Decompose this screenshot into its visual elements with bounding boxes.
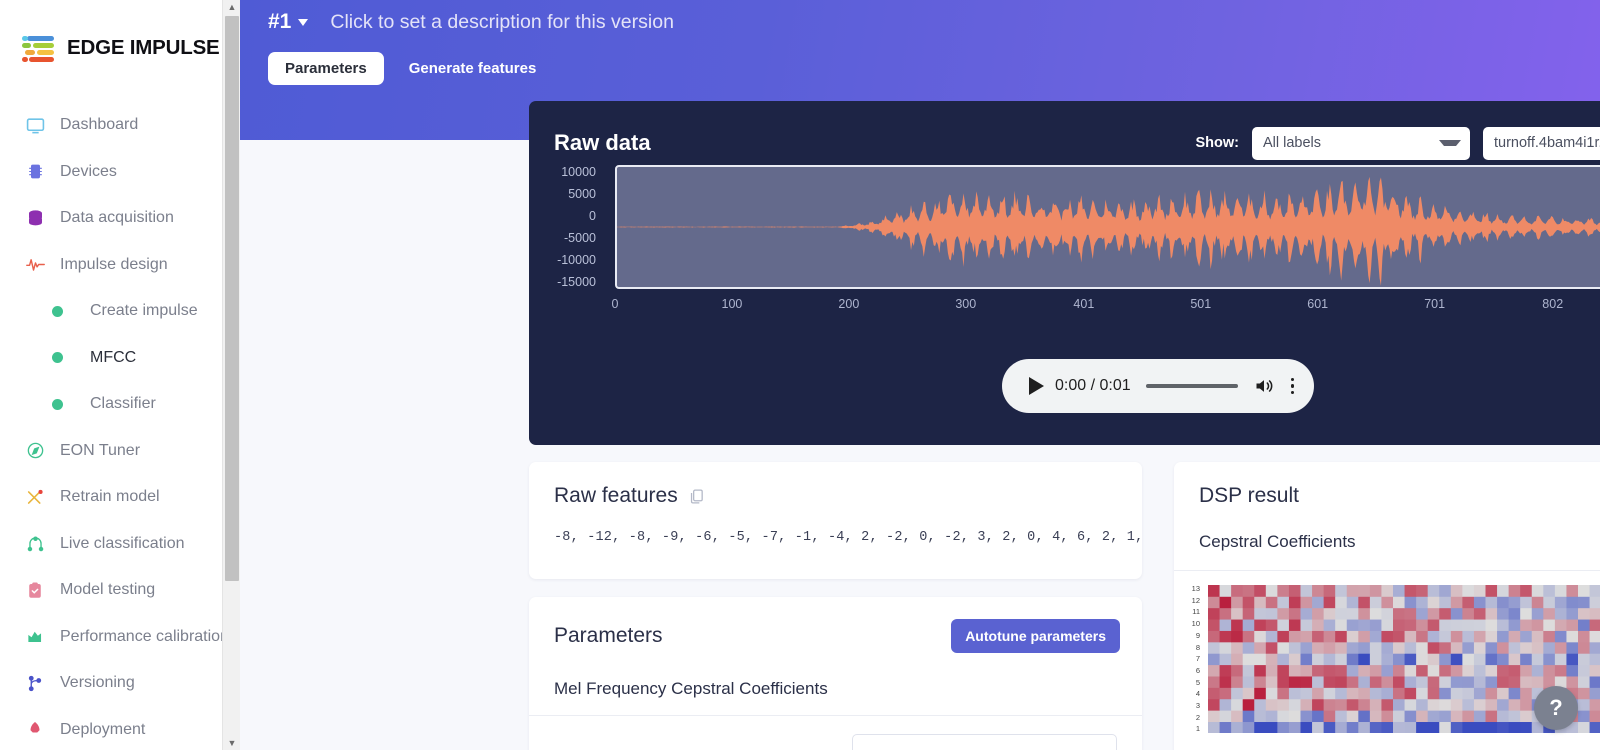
heatmap-cell xyxy=(1428,631,1440,643)
heatmap-cell xyxy=(1393,699,1405,711)
heatmap-cell xyxy=(1208,676,1220,688)
heatmap-cell xyxy=(1555,631,1567,643)
heatmap-cell xyxy=(1486,653,1498,665)
heatmap-cell xyxy=(1451,710,1463,722)
sidebar-subitem-classifier[interactable]: Classifier xyxy=(0,381,240,428)
heatmap-cell xyxy=(1243,699,1255,711)
x-tick: 100 xyxy=(721,297,742,311)
heatmap-cell xyxy=(1590,631,1600,643)
heatmap-cell xyxy=(1486,665,1498,677)
heatmap-cell xyxy=(1335,676,1347,688)
raw-features-values[interactable]: -8, -12, -8, -9, -6, -5, -7, -1, -4, 2, … xyxy=(529,508,1142,545)
heatmap-cell xyxy=(1381,722,1393,733)
heatmap-cell xyxy=(1497,608,1509,620)
heatmap-cell xyxy=(1520,619,1532,631)
heatmap-cell xyxy=(1393,676,1405,688)
tab-bar: Parameters Generate features xyxy=(268,52,1572,85)
heatmap-cell xyxy=(1532,665,1544,677)
heatmap-cell xyxy=(1358,608,1370,620)
heatmap-cell xyxy=(1405,687,1417,699)
heatmap-cell xyxy=(1358,676,1370,688)
heatmap-cell xyxy=(1312,665,1324,677)
heatmap-cell xyxy=(1335,710,1347,722)
heatmap-cell xyxy=(1347,631,1359,643)
heatmap-cell xyxy=(1208,631,1220,643)
y-axis-ticks: 10000 5000 0 -5000 -10000 -15000 xyxy=(529,165,605,289)
sidebar-item-devices[interactable]: Devices xyxy=(0,149,240,196)
sidebar-item-live-classification[interactable]: Live classification xyxy=(0,521,240,568)
heatmap-cell xyxy=(1416,608,1428,620)
heatmap-cell xyxy=(1370,642,1382,654)
heatmap-cell xyxy=(1462,687,1474,699)
heatmap-cell xyxy=(1566,676,1578,688)
sidebar-item-impulse-design[interactable]: Impulse design xyxy=(0,242,240,289)
heatmap-cell xyxy=(1289,687,1301,699)
heatmap-cell xyxy=(1590,676,1600,688)
heatmap-cell xyxy=(1451,642,1463,654)
heatmap-cell xyxy=(1520,699,1532,711)
heatmap-cell xyxy=(1405,676,1417,688)
sidebar-item-retrain-model[interactable]: Retrain model xyxy=(0,474,240,521)
sidebar-subitem-create-impulse[interactable]: Create impulse xyxy=(0,288,240,335)
heatmap-cell xyxy=(1231,687,1243,699)
heatmap-cell xyxy=(1254,722,1266,733)
heatmap-cell xyxy=(1220,722,1232,733)
heatmap-cell xyxy=(1416,687,1428,699)
sidebar-item-label: Versioning xyxy=(60,674,135,692)
x-tick: 0 xyxy=(612,297,619,311)
heatmap-cell xyxy=(1243,631,1255,643)
heatmap-cell xyxy=(1393,653,1405,665)
heatmap-y-tick: 2 xyxy=(1174,714,1204,722)
heatmap-cell xyxy=(1289,619,1301,631)
heatmap-cell xyxy=(1254,665,1266,677)
help-button[interactable]: ? xyxy=(1534,686,1578,730)
heatmap-cell xyxy=(1451,687,1463,699)
sidebar-item-model-testing[interactable]: Model testing xyxy=(0,567,240,614)
heatmap-y-tick: 9 xyxy=(1174,632,1204,640)
heatmap-cell xyxy=(1266,687,1278,699)
heatmap-cell xyxy=(1220,676,1232,688)
raw-data-header: Raw data Show: All labels turnoff.4bam4i… xyxy=(529,101,1600,163)
shuffle-icon xyxy=(22,486,48,508)
heatmap-cell xyxy=(1486,687,1498,699)
chevron-down-icon xyxy=(298,19,308,26)
sidebar-item-performance-calibration[interactable]: Performance calibration xyxy=(0,614,240,661)
heatmap-cell xyxy=(1428,596,1440,608)
heatmap-cell xyxy=(1335,687,1347,699)
heatmap-cell xyxy=(1474,665,1486,677)
heatmap-cell xyxy=(1520,722,1532,733)
heatmap-cell xyxy=(1277,608,1289,620)
heatmap-cell xyxy=(1277,676,1289,688)
heatmap-cell xyxy=(1381,699,1393,711)
heatmap-cell xyxy=(1451,596,1463,608)
heatmap-cell xyxy=(1358,619,1370,631)
heatmap-cell xyxy=(1393,585,1405,597)
heatmap-cell xyxy=(1405,608,1417,620)
heatmap-cell xyxy=(1509,665,1521,677)
heatmap-cell xyxy=(1208,665,1220,677)
heatmap-cell xyxy=(1312,676,1324,688)
sidebar-nav: Dashboard Devices xyxy=(0,102,240,750)
heatmap-cell xyxy=(1347,687,1359,699)
heatmap-cell xyxy=(1590,699,1600,711)
heatmap-cell xyxy=(1208,596,1220,608)
heatmap-cell xyxy=(1566,642,1578,654)
heatmap-cell xyxy=(1428,687,1440,699)
tab-generate-features[interactable]: Generate features xyxy=(392,52,554,85)
heatmap-cell xyxy=(1451,631,1463,643)
heatmap-cell xyxy=(1590,687,1600,699)
volume-icon[interactable] xyxy=(1253,376,1275,396)
scrollbar-thumb[interactable] xyxy=(225,16,239,581)
heatmap-cell xyxy=(1405,631,1417,643)
heatmap-cell xyxy=(1451,608,1463,620)
heatmap-cell xyxy=(1277,642,1289,654)
heatmap-cell xyxy=(1370,722,1382,733)
sidebar-item-deployment[interactable]: Deployment xyxy=(0,707,240,750)
y-tick: 10000 xyxy=(529,166,605,179)
heatmap-cell xyxy=(1289,676,1301,688)
heatmap-cell xyxy=(1509,642,1521,654)
heatmap-cell xyxy=(1451,699,1463,711)
heatmap-cell xyxy=(1289,722,1301,733)
waveform-path xyxy=(617,177,1600,286)
heatmap-cell xyxy=(1208,608,1220,620)
heatmap-y-tick: 1 xyxy=(1174,725,1204,733)
brand-logo-area[interactable]: EDGE IMPULSE xyxy=(0,0,240,70)
heatmap-cell xyxy=(1439,676,1451,688)
heatmap-cell xyxy=(1381,665,1393,677)
heatmap-cell xyxy=(1578,665,1590,677)
heatmap-cell xyxy=(1208,687,1220,699)
heatmap-cell xyxy=(1497,631,1509,643)
copy-icon[interactable] xyxy=(688,488,705,505)
heatmap-cell xyxy=(1358,699,1370,711)
heatmap-cell xyxy=(1439,665,1451,677)
heatmap-cell xyxy=(1277,619,1289,631)
heatmap-cell xyxy=(1416,585,1428,597)
x-tick: 501 xyxy=(1190,297,1211,311)
heatmap-cell xyxy=(1497,710,1509,722)
heatmap-cell xyxy=(1208,619,1220,631)
heatmap-cell xyxy=(1289,608,1301,620)
heatmap-cell xyxy=(1462,676,1474,688)
heatmap-cell xyxy=(1243,687,1255,699)
heatmap-cell xyxy=(1347,676,1359,688)
heatmap-cell xyxy=(1393,642,1405,654)
heatmap-cell xyxy=(1532,653,1544,665)
heatmap-cell xyxy=(1486,619,1498,631)
heatmap-cell xyxy=(1462,619,1474,631)
heatmap-cell xyxy=(1266,653,1278,665)
status-dot-icon xyxy=(52,399,63,410)
heatmap-cell xyxy=(1393,631,1405,643)
waveform-plot[interactable] xyxy=(615,165,1600,289)
heatmap-cell xyxy=(1428,710,1440,722)
x-tick: 601 xyxy=(1307,297,1328,311)
parameters-card: Parameters Autotune parameters Mel Frequ… xyxy=(529,597,1142,750)
heatmap-cell xyxy=(1301,699,1313,711)
heatmap-cell xyxy=(1347,608,1359,620)
raw-data-card: Raw data Show: All labels turnoff.4bam4i… xyxy=(529,101,1600,445)
heatmap-cell xyxy=(1543,608,1555,620)
parameter-input[interactable] xyxy=(852,734,1117,750)
labels-select[interactable]: All labels xyxy=(1252,127,1470,160)
heatmap-cell xyxy=(1497,585,1509,597)
heatmap-cell xyxy=(1428,699,1440,711)
autotune-parameters-button[interactable]: Autotune parameters xyxy=(951,619,1120,653)
heatmap-cell xyxy=(1243,642,1255,654)
heatmap-cell xyxy=(1543,665,1555,677)
heatmap-cell xyxy=(1381,585,1393,597)
heatmap-cell xyxy=(1277,665,1289,677)
sidebar-subitem-mfcc[interactable]: MFCC xyxy=(0,335,240,382)
heatmap-cell xyxy=(1301,608,1313,620)
version-row: #1 Click to set a description for this v… xyxy=(268,0,1572,38)
heatmap-cell xyxy=(1335,619,1347,631)
heatmap-cell xyxy=(1451,653,1463,665)
y-tick: 5000 xyxy=(529,188,605,201)
heatmap-cell xyxy=(1370,619,1382,631)
y-tick: 0 xyxy=(529,210,605,223)
heatmap-cell xyxy=(1301,596,1313,608)
heatmap-cell xyxy=(1335,631,1347,643)
parameters-subtitle: Mel Frequency Cepstral Coefficients xyxy=(529,653,1142,699)
heatmap-cell xyxy=(1312,722,1324,733)
sidebar-item-dashboard[interactable]: Dashboard xyxy=(0,102,240,149)
raw-features-card: Raw features -8, -12, -8, -9, -6, -5, -7… xyxy=(529,462,1142,579)
edge-impulse-logo-icon xyxy=(22,35,56,61)
heatmap-cell xyxy=(1543,642,1555,654)
heatmap-cell xyxy=(1358,722,1370,733)
heatmap-cell xyxy=(1497,596,1509,608)
heatmap-cell xyxy=(1497,653,1509,665)
heatmap-cell xyxy=(1243,619,1255,631)
sidebar-subitem-label: Create impulse xyxy=(90,302,198,320)
heatmap-cell xyxy=(1254,687,1266,699)
sidebar-item-label: Retrain model xyxy=(60,488,160,506)
heatmap-cell xyxy=(1324,596,1336,608)
heatmap-cell xyxy=(1439,619,1451,631)
heatmap-cell xyxy=(1370,665,1382,677)
heatmap-cell xyxy=(1301,722,1313,733)
scroll-up-icon[interactable]: ▲ xyxy=(223,0,240,14)
play-icon[interactable] xyxy=(1029,377,1044,395)
heatmap-cell xyxy=(1509,596,1521,608)
heatmap-cell xyxy=(1532,596,1544,608)
bar-chart-icon xyxy=(22,626,48,648)
heatmap-cell xyxy=(1277,687,1289,699)
heatmap-cell xyxy=(1347,699,1359,711)
sidebar-subitem-label: MFCC xyxy=(90,349,136,367)
heatmap-cell xyxy=(1405,699,1417,711)
heatmap-cell xyxy=(1254,676,1266,688)
heatmap-cell xyxy=(1335,596,1347,608)
heatmap-cell xyxy=(1324,631,1336,643)
heatmap-cell xyxy=(1266,619,1278,631)
heatmap-cell xyxy=(1370,596,1382,608)
heatmap-cell xyxy=(1439,687,1451,699)
heatmap-cell xyxy=(1486,676,1498,688)
heatmap-cell xyxy=(1381,596,1393,608)
heatmap-cell xyxy=(1358,653,1370,665)
sidebar-item-label: Dashboard xyxy=(60,116,138,134)
heatmap-cell xyxy=(1301,653,1313,665)
heatmap-cell xyxy=(1474,608,1486,620)
sidebar-item-label: Data acquisition xyxy=(60,209,174,227)
heatmap-cell xyxy=(1393,608,1405,620)
heatmap-cell xyxy=(1370,631,1382,643)
raw-data-chart: 10000 5000 0 -5000 -10000 -15000 0100200… xyxy=(529,165,1600,335)
heatmap-cell xyxy=(1543,596,1555,608)
heatmap-cell xyxy=(1208,642,1220,654)
heatmap-cell xyxy=(1520,596,1532,608)
heatmap-cell xyxy=(1381,676,1393,688)
version-description[interactable]: Click to set a description for this vers… xyxy=(330,11,674,34)
heatmap-cell xyxy=(1381,619,1393,631)
heatmap-cell xyxy=(1462,642,1474,654)
heatmap-cell xyxy=(1497,722,1509,733)
heatmap-cell xyxy=(1335,608,1347,620)
heatmap-cell xyxy=(1451,665,1463,677)
heatmap-cell xyxy=(1462,631,1474,643)
heatmap-cell xyxy=(1462,665,1474,677)
heatmap-cell xyxy=(1254,642,1266,654)
heatmap-cell xyxy=(1393,710,1405,722)
scroll-down-icon[interactable]: ▼ xyxy=(223,736,240,750)
heatmap-cell xyxy=(1358,596,1370,608)
heatmap-y-tick: 7 xyxy=(1174,655,1204,663)
heatmap-cell xyxy=(1301,585,1313,597)
heatmap-cell xyxy=(1566,619,1578,631)
heatmap-cell xyxy=(1590,585,1600,597)
heatmap-cell xyxy=(1439,710,1451,722)
heatmap-cell xyxy=(1208,710,1220,722)
raw-features-header: Raw features xyxy=(529,462,1142,508)
heatmap-cell xyxy=(1231,642,1243,654)
heatmap-cell xyxy=(1208,585,1220,597)
audio-progress-slider[interactable] xyxy=(1146,384,1238,388)
heatmap-cell xyxy=(1462,699,1474,711)
heatmap-cell xyxy=(1590,665,1600,677)
heatmap-cell xyxy=(1474,722,1486,733)
sidebar-scrollbar[interactable]: ▲ ▼ xyxy=(222,0,240,750)
heatmap-cell xyxy=(1462,596,1474,608)
rocket-icon xyxy=(22,719,48,741)
heatmap-cell xyxy=(1555,619,1567,631)
version-selector[interactable]: #1 xyxy=(268,10,308,34)
heatmap-cell xyxy=(1277,710,1289,722)
heatmap-cell xyxy=(1381,642,1393,654)
heatmap-cell xyxy=(1439,631,1451,643)
monitor-icon xyxy=(22,114,48,136)
heatmap-cell xyxy=(1347,619,1359,631)
more-options-icon[interactable] xyxy=(1286,378,1297,395)
heatmap-y-tick: 13 xyxy=(1174,585,1204,593)
heatmap-cell xyxy=(1254,699,1266,711)
heatmap-cell xyxy=(1474,631,1486,643)
audio-player[interactable]: 0:00 / 0:01 xyxy=(1002,359,1314,413)
heatmap-cell xyxy=(1439,608,1451,620)
heatmap-cell xyxy=(1312,619,1324,631)
heatmap-y-tick: 8 xyxy=(1174,644,1204,652)
x-tick: 802 xyxy=(1542,297,1563,311)
heatmap-cell xyxy=(1451,585,1463,597)
heatmap-cell xyxy=(1578,676,1590,688)
raw-features-title: Raw features xyxy=(554,484,678,508)
heatmap-cell xyxy=(1231,619,1243,631)
chevron-down-icon xyxy=(1439,140,1461,146)
heatmap-cell xyxy=(1370,676,1382,688)
heatmap-cell xyxy=(1578,631,1590,643)
heatmap-cell xyxy=(1566,665,1578,677)
heatmap-cell xyxy=(1566,585,1578,597)
heatmap-cell xyxy=(1312,687,1324,699)
heatmap-cell xyxy=(1555,665,1567,677)
x-tick: 701 xyxy=(1424,297,1445,311)
heatmap-cell xyxy=(1254,596,1266,608)
heatmap-cell xyxy=(1509,687,1521,699)
heatmap-cell xyxy=(1370,687,1382,699)
tab-parameters[interactable]: Parameters xyxy=(268,52,384,85)
heatmap-cell xyxy=(1497,642,1509,654)
sidebar-item-versioning[interactable]: Versioning xyxy=(0,660,240,707)
y-tick: -10000 xyxy=(529,254,605,267)
sidebar-item-eon-tuner[interactable]: EON Tuner xyxy=(0,428,240,475)
heatmap-cell xyxy=(1324,710,1336,722)
heatmap-cell xyxy=(1428,642,1440,654)
sample-select[interactable]: turnoff.4bam4i1r.s10 (turnoff) xyxy=(1483,127,1600,160)
heatmap-cell xyxy=(1451,619,1463,631)
heatmap-cell xyxy=(1324,676,1336,688)
heatmap-cell xyxy=(1347,596,1359,608)
heatmap-cell xyxy=(1266,608,1278,620)
heatmap-cell xyxy=(1416,699,1428,711)
heatmap-cell xyxy=(1532,676,1544,688)
sidebar-item-data-acquisition[interactable]: Data acquisition xyxy=(0,195,240,242)
heatmap-cell xyxy=(1289,596,1301,608)
heatmap-cell xyxy=(1566,653,1578,665)
heatmap-cell xyxy=(1289,665,1301,677)
heatmap-cell xyxy=(1393,596,1405,608)
heatmap-cell xyxy=(1393,687,1405,699)
heatmap-cell xyxy=(1509,676,1521,688)
sidebar-item-label: Impulse design xyxy=(60,256,168,274)
heatmap-cell xyxy=(1231,631,1243,643)
heatmap-cell xyxy=(1578,722,1590,733)
heatmap-cell xyxy=(1520,631,1532,643)
heatmap-cell xyxy=(1532,642,1544,654)
heatmap-cell xyxy=(1474,710,1486,722)
heatmap-cell xyxy=(1428,676,1440,688)
heatmap-cell xyxy=(1416,619,1428,631)
heatmap-cell xyxy=(1578,619,1590,631)
heatmap-cell xyxy=(1231,585,1243,597)
heatmap-cell xyxy=(1301,631,1313,643)
heatmap-cell xyxy=(1335,699,1347,711)
heatmap-cell xyxy=(1358,585,1370,597)
heatmap-cell xyxy=(1405,710,1417,722)
heatmap-cell xyxy=(1532,608,1544,620)
sidebar: EDGE IMPULSE Dashboard Devices xyxy=(0,0,240,750)
heatmap-cell xyxy=(1254,631,1266,643)
heatmap-cell xyxy=(1532,619,1544,631)
heatmap-cell xyxy=(1428,665,1440,677)
heatmap-cell xyxy=(1312,585,1324,597)
heatmap-cell xyxy=(1381,631,1393,643)
